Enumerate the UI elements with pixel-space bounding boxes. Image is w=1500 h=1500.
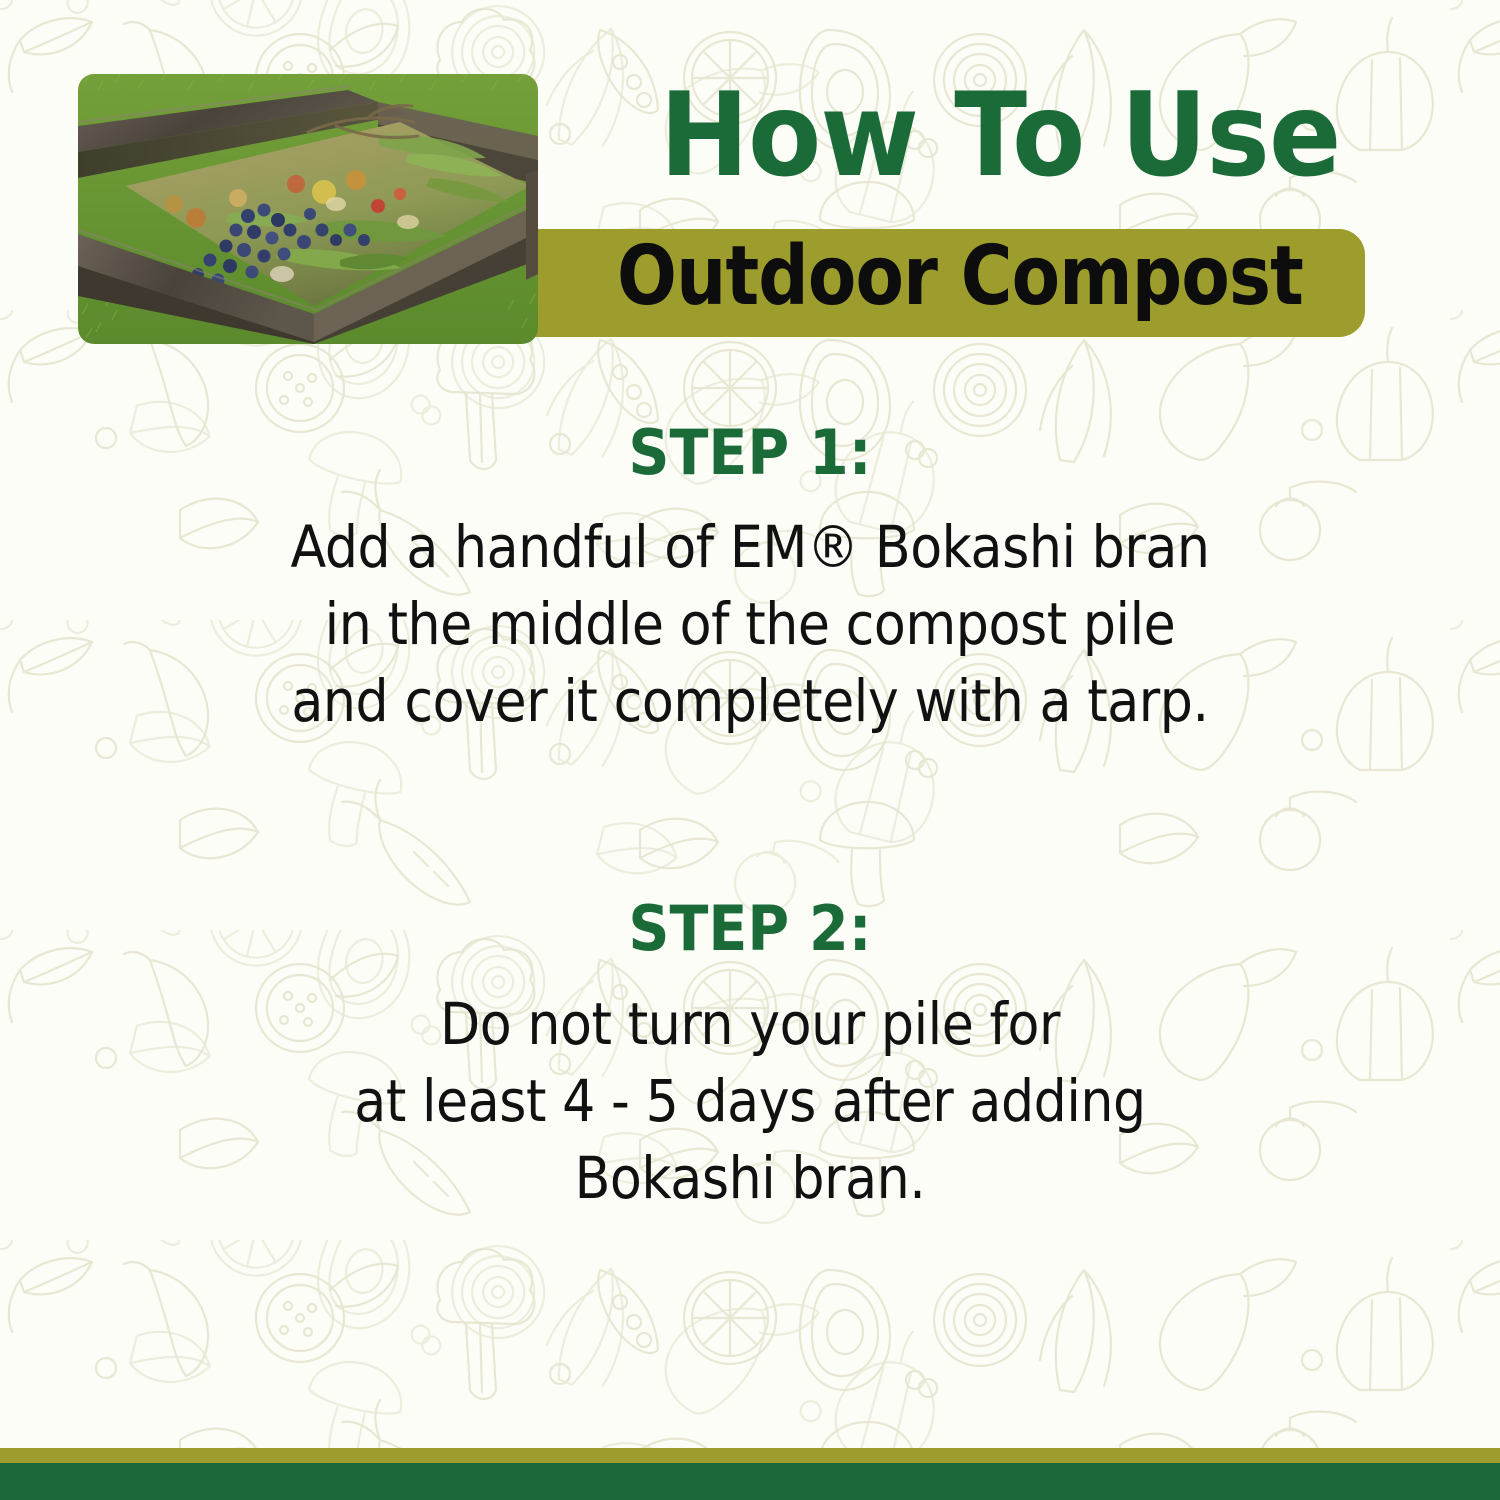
footer-olive-bar [0,1448,1500,1463]
step-2-line-2: at least 4 - 5 days after adding [75,1063,1425,1140]
step-block-2: STEP 2: Do not turn your pile for at lea… [0,896,1500,1216]
page-title: How To Use [595,78,1405,194]
page-subtitle: Outdoor Compost [603,236,1317,318]
poster-root: How To Use Outdoor Compost STEP 1: Add a… [0,0,1500,1500]
step-2-line-1: Do not turn your pile for [75,986,1425,1063]
step-2-line-3: Bokashi bran. [75,1140,1425,1217]
step-2-heading: STEP 2: [60,896,1440,961]
step-1-line-2: in the middle of the compost pile [75,586,1425,663]
poster-header: How To Use Outdoor Compost [0,0,1500,365]
step-1-line-1: Add a handful of EM® Bokashi bran [75,509,1425,586]
footer-green-bar [0,1463,1500,1500]
step-block-1: STEP 1: Add a handful of EM® Bokashi bra… [0,420,1500,740]
step-1-line-3: and cover it completely with a tarp. [75,663,1425,740]
step-1-heading: STEP 1: [60,420,1440,485]
steps-container: STEP 1: Add a handful of EM® Bokashi bra… [0,420,1500,1217]
step-1-body: Add a handful of EM® Bokashi bran in the… [75,509,1425,740]
step-2-body: Do not turn your pile for at least 4 - 5… [75,986,1425,1217]
compost-bin-photo [78,74,538,344]
